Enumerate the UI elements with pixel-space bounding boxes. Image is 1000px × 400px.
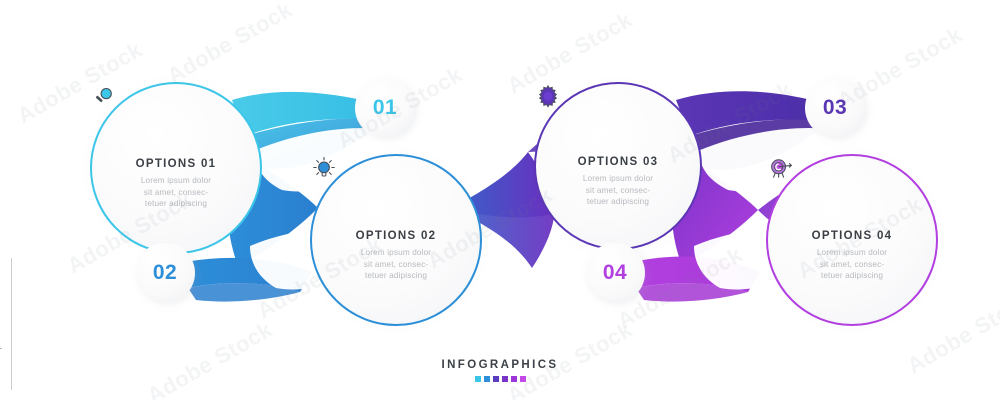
step-badge-1[interactable]: 01	[355, 78, 415, 138]
footer-dot-5	[511, 376, 517, 382]
step-description: Lorem ipsum dolorsit amet, consec-tetuer…	[361, 247, 431, 283]
step-description: Lorem ipsum dolorsit amet, consec-tetuer…	[141, 175, 211, 211]
gear-icon	[605, 124, 631, 150]
badge-number: 02	[153, 261, 177, 285]
step-title: OPTIONS 03	[578, 156, 659, 168]
step-badge-3[interactable]: 03	[805, 78, 865, 138]
footer-dot-4	[502, 376, 508, 382]
footer-label: INFOGRAPHICS	[0, 359, 1000, 371]
footer-dot-1	[475, 376, 481, 382]
footer-dots	[0, 376, 1000, 382]
step-card-4[interactable]: OPTIONS 04 Lorem ipsum dolorsit amet, co…	[766, 154, 938, 326]
step-card-1[interactable]: OPTIONS 01 Lorem ipsum dolorsit amet, co…	[90, 82, 262, 254]
footer-dot-2	[484, 376, 490, 382]
target-icon	[839, 198, 865, 224]
step-badge-4[interactable]: 04	[585, 243, 645, 303]
infographic-canvas: OPTIONS 01 Lorem ipsum dolorsit amet, co…	[0, 0, 1000, 400]
step-title: OPTIONS 01	[136, 158, 217, 170]
magnifier-icon	[163, 126, 189, 152]
footer-dot-3	[493, 376, 499, 382]
step-description: Lorem ipsum dolorsit amet, consec-tetuer…	[583, 173, 653, 209]
badge-number: 04	[603, 261, 627, 285]
edge-credit: Adobe Stock | #509997142	[0, 304, 2, 394]
lightbulb-icon	[383, 198, 409, 224]
badge-number: 01	[373, 96, 397, 120]
step-badge-2[interactable]: 02	[135, 243, 195, 303]
step-card-2[interactable]: OPTIONS 02 Lorem ipsum dolorsit amet, co…	[310, 154, 482, 326]
step-card-3[interactable]: OPTIONS 03 Lorem ipsum dolorsit amet, co…	[534, 82, 702, 250]
step-title: OPTIONS 04	[812, 230, 893, 242]
footer-dot-6	[520, 376, 526, 382]
badge-number: 03	[823, 96, 847, 120]
footer: INFOGRAPHICS	[0, 359, 1000, 382]
edge-rule	[11, 258, 12, 390]
step-description: Lorem ipsum dolorsit amet, consec-tetuer…	[817, 247, 887, 283]
step-title: OPTIONS 02	[356, 230, 437, 242]
